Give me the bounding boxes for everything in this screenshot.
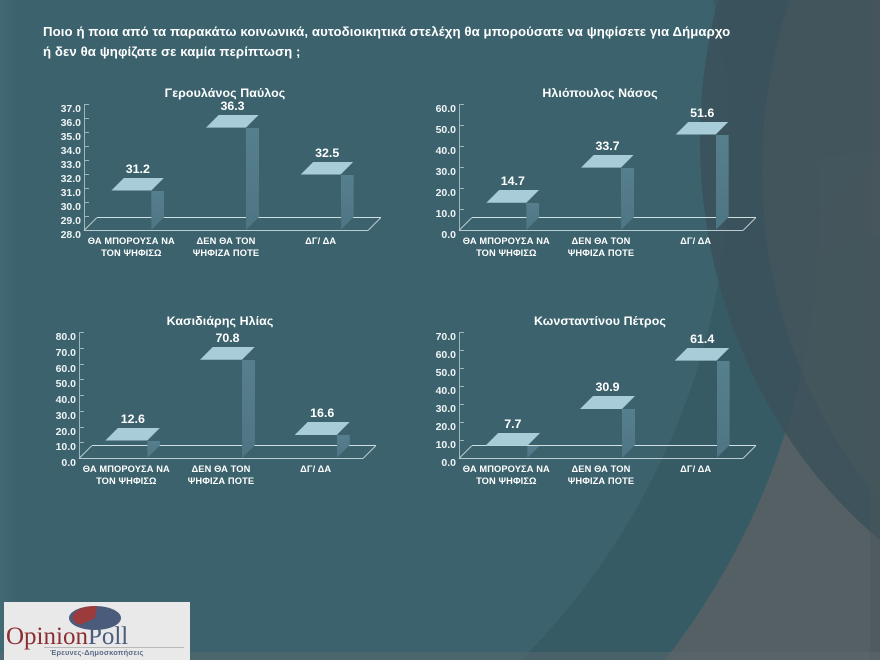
chart-plot-area: 70.060.050.040.030.020.010.00.07.7ΘΑ ΜΠΟ… [420,332,780,458]
bar-top-face [105,428,160,441]
bar-front-face [105,441,147,458]
bar-top-face [301,162,354,175]
bar [581,168,621,230]
chart-floor-right-edge [743,217,757,231]
x-axis-category-label: ΔΕΝ ΘΑ ΤΟΝ ΨΗΦΙΖΑ ΠΟΤΕ [181,236,272,259]
bar-side-face [621,168,634,230]
y-axis-tick-mark [84,104,89,105]
y-axis-tick-mark [79,395,84,396]
bar-value-label: 31.2 [97,162,178,176]
bar-front-face [200,360,242,458]
y-axis: 70.060.050.040.030.020.010.00.0 [420,332,456,458]
chart-plot-area: 37.036.035.034.033.032.031.030.029.028.0… [45,104,405,230]
y-axis-tick-mark [79,332,84,333]
bar-value-label: 12.6 [91,412,174,426]
bar-value-label: 30.9 [566,380,649,394]
bar-side-face [341,175,354,231]
bar-value-label: 61.4 [661,332,744,346]
y-axis: 60.050.040.030.020.010.00.0 [420,104,456,230]
y-axis-tick-mark [459,146,464,147]
bar-top-face [206,115,259,128]
bar-side-face [527,446,540,458]
y-axis-tick-mark [79,348,84,349]
bar [295,435,337,458]
slide-headline: Ποιο ή ποια από τα παρακάτω κοινωνικά, α… [43,22,803,63]
y-axis-tick-mark [79,364,84,365]
chart-plot-area: 60.050.040.030.020.010.00.014.7ΘΑ ΜΠΟΡΟΥ… [420,104,780,230]
chart-floor-right-edge [743,445,757,459]
y-axis-tick-mark [79,427,84,428]
chart-panel-iliopoulos: Ηλιόπουλος Νάσος 60.050.040.030.020.010.… [420,86,780,230]
y-axis-tick-mark [459,440,464,441]
y-axis-tick-mark [459,209,464,210]
chart-floor-front-edge [459,230,743,231]
bar-front-face [295,435,337,458]
bar [676,135,716,230]
bar-value-label: 33.7 [567,139,648,153]
bar-top-face [295,422,350,435]
y-axis-tick-mark [79,442,84,443]
chart-plot-area: 80.070.060.050.040.030.020.010.00.012.6Θ… [40,332,400,458]
bar [485,446,527,458]
y-axis-tick-mark [84,146,89,147]
y-axis-tick-mark [459,386,464,387]
y-axis-tick-mark [459,332,464,333]
y-axis-tick-mark [84,188,89,189]
x-axis-category-label: ΔΓ/ ΔΑ [650,236,741,248]
y-axis-tick-mark [84,132,89,133]
y-axis-tick-mark [459,404,464,405]
bar-front-face [486,203,526,230]
x-axis-category-label: ΘΑ ΜΠΟΡΟΥΣΑ ΝΑ ΤΟΝ ΨΗΦΙΣΩ [461,236,552,259]
bar [675,361,717,458]
chart-floor-front-edge [79,458,363,459]
chart-floor-left-edge [459,217,473,231]
chart-floor-right-edge [368,217,382,231]
bar-value-label: 32.5 [287,146,368,160]
bar-side-face [526,203,539,230]
x-axis-category-label: ΔΕΝ ΘΑ ΤΟΝ ΨΗΦΙΖΑ ΠΟΤΕ [556,464,647,487]
bar-side-face [622,409,635,458]
bar-value-label: 70.8 [186,331,269,345]
y-axis-tick-mark [84,202,89,203]
bar-value-label: 7.7 [471,417,554,431]
bar [200,360,242,458]
chart-floor-front-edge [459,458,743,459]
y-axis-tick-mark [84,174,89,175]
y-axis-tick-mark [84,160,89,161]
y-axis-tick-mark [79,379,84,380]
bar-side-face [242,360,255,458]
bar-side-face [151,191,164,230]
chart-floor-left-edge [84,217,98,231]
bar-side-face [717,361,730,458]
bar-front-face [301,175,341,231]
bar-top-face [200,347,255,360]
x-axis-category-label: ΘΑ ΜΠΟΡΟΥΣΑ ΝΑ ΤΟΝ ΨΗΦΙΣΩ [81,464,172,487]
bar-front-face [675,361,717,458]
bar-top-face [486,190,539,203]
chart-floor-left-edge [459,445,473,459]
bar-top-face [485,433,540,446]
bar-top-face [676,122,729,135]
y-axis-tick-mark [459,188,464,189]
y-axis-tick-mark [459,104,464,105]
logo-tagline: Έρευνες-Δημοσκοπήσεις [50,648,144,657]
chart-panel-gerulanos: Γερουλάνος Παύλος 37.036.035.034.033.032… [45,86,405,230]
bar-front-face [111,191,151,230]
bar-front-face [206,128,246,230]
bar-top-face [581,155,634,168]
logo-word-poll: Poll [88,623,128,650]
y-axis-tick-mark [84,216,89,217]
y-axis-tick-mark [459,167,464,168]
bar-front-face [581,168,621,230]
bar-side-face [147,441,160,458]
bar [111,191,151,230]
chart-title: Κωνσταντίνου Πέτρος [420,314,780,328]
bar-value-label: 16.6 [281,406,364,420]
bar [580,409,622,458]
bar-side-face [246,128,259,230]
x-axis-category-label: ΔΓ/ ΔΑ [275,236,366,248]
y-axis-tick-mark [84,118,89,119]
headline-line-1: Ποιο ή ποια από τα παρακάτω κοινωνικά, α… [43,24,730,39]
logo-word-opinion: Opinion [6,623,88,650]
bar [105,441,147,458]
y-axis-tick-mark [79,411,84,412]
bar-top-face [580,396,635,409]
bar-top-face [111,178,164,191]
y-axis-line [84,104,85,230]
x-axis-category-label: ΔΕΝ ΘΑ ΤΟΝ ΨΗΦΙΖΑ ΠΟΤΕ [556,236,647,259]
bar-value-label: 51.6 [662,106,743,120]
bar [301,175,341,231]
chart-panel-kasidiaris: Κασιδιάρης Ηλίας 80.070.060.050.040.030.… [40,314,400,458]
bar-side-face [337,435,350,458]
y-axis: 80.070.060.050.040.030.020.010.00.0 [40,332,76,458]
bar-top-face [675,348,730,361]
y-axis-tick-mark [459,350,464,351]
headline-line-2: ή δεν θα ψηφίζατε σε καμία περίπτωση ; [43,42,803,62]
chart-floor-right-edge [363,445,377,459]
bar-front-face [580,409,622,458]
x-axis-category-label: ΔΓ/ ΔΑ [650,464,741,476]
bar-front-face [676,135,716,230]
bar-side-face [716,135,729,230]
x-axis-category-label: ΘΑ ΜΠΟΡΟΥΣΑ ΝΑ ΤΟΝ ΨΗΦΙΣΩ [86,236,177,259]
chart-floor-left-edge [79,445,93,459]
chart-floor-front-edge [84,230,368,231]
y-axis-tick-mark [459,368,464,369]
x-axis-category-label: ΔΓ/ ΔΑ [270,464,361,476]
y-axis-tick-mark [459,422,464,423]
bar [206,128,246,230]
x-axis-category-label: ΔΕΝ ΘΑ ΤΟΝ ΨΗΦΙΖΑ ΠΟΤΕ [176,464,267,487]
bar [486,203,526,230]
chart-panel-konstantinou: Κωνσταντίνου Πέτρος 70.060.050.040.030.0… [420,314,780,458]
bar-value-label: 36.3 [192,99,273,113]
x-axis-category-label: ΘΑ ΜΠΟΡΟΥΣΑ ΝΑ ΤΟΝ ΨΗΦΙΣΩ [461,464,552,487]
bar-front-face [485,446,527,458]
opinion-poll-logo: OpinionPoll Έρευνες-Δημοσκοπήσεις [4,602,190,660]
bar-value-label: 14.7 [472,174,553,188]
chart-title: Ηλιόπουλος Νάσος [420,86,780,100]
logo-wordmark: OpinionPoll [6,624,190,649]
chart-title: Κασιδιάρης Ηλίας [40,314,400,328]
y-axis: 37.036.035.034.033.032.031.030.029.028.0 [45,104,81,230]
y-axis-tick-mark [459,125,464,126]
